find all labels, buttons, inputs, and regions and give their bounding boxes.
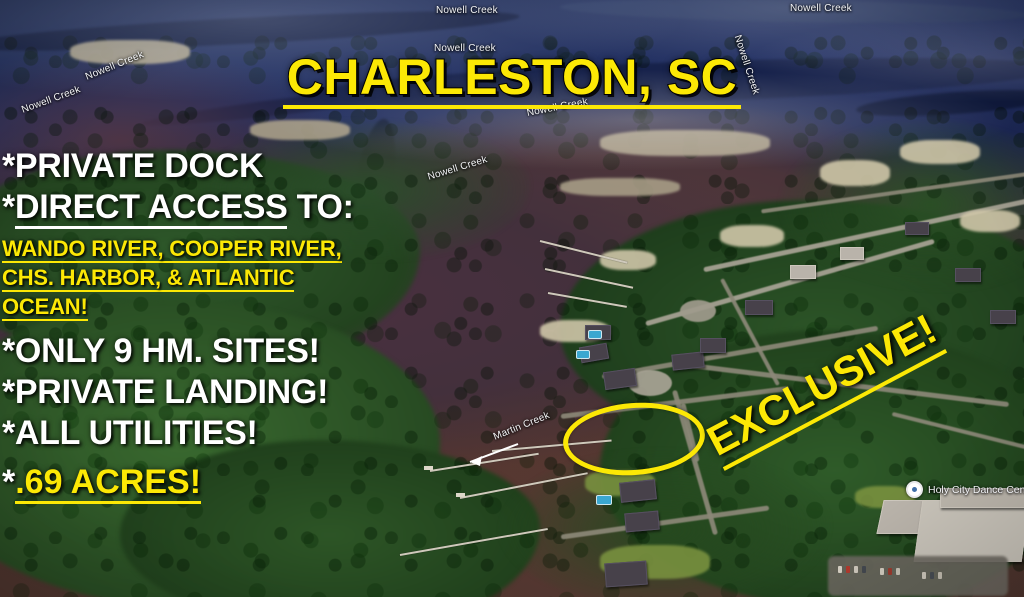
page-title: CHARLESTON, SC: [0, 48, 1024, 109]
bullet-acreage: *.69 ACRES!: [2, 462, 422, 503]
listing-graphic: Nowell CreekNowell CreekNowell CreekNowe…: [0, 0, 1024, 597]
bullet-waterways-line-3: OCEAN!: [2, 292, 422, 321]
poi-holy-city-dance-center[interactable]: Holy City Dance Center: [906, 481, 1024, 498]
bullet-direct-suffix: TO:: [287, 188, 353, 226]
page-title-text: CHARLESTON, SC: [283, 52, 742, 109]
bullet-direct-underlined: DIRECT ACCESS: [15, 188, 288, 229]
bullet-waterways-line-2: CHS. HARBOR, & ATLANTIC: [2, 263, 422, 292]
bullet-waterways-line-1: WANDO RIVER, COOPER RIVER,: [2, 234, 422, 263]
bullet-waterways-text-1: WANDO RIVER, COOPER RIVER,: [2, 236, 342, 263]
feature-bullet-list: *PRIVATE DOCK *DIRECT ACCESS TO: WANDO R…: [2, 146, 422, 503]
acres-value: .69 ACRES!: [15, 463, 201, 504]
bullet-private-dock: *PRIVATE DOCK: [2, 146, 422, 187]
bullet-direct-prefix: *: [2, 188, 15, 226]
bullet-direct-access: *DIRECT ACCESS TO:: [2, 187, 422, 228]
poi-label: Holy City Dance Center: [928, 484, 1024, 496]
acres-prefix: *: [2, 463, 15, 501]
bullet-private-landing: *PRIVATE LANDING!: [2, 372, 422, 413]
bullet-waterways-text-2: CHS. HARBOR, & ATLANTIC: [2, 265, 294, 292]
bullet-all-utilities: *ALL UTILITIES!: [2, 413, 422, 454]
bullet-waterways-text-3: OCEAN!: [2, 294, 88, 321]
map-pin-circle-icon: [906, 481, 923, 498]
bullet-only-9-sites: *ONLY 9 HM. SITES!: [2, 331, 422, 372]
